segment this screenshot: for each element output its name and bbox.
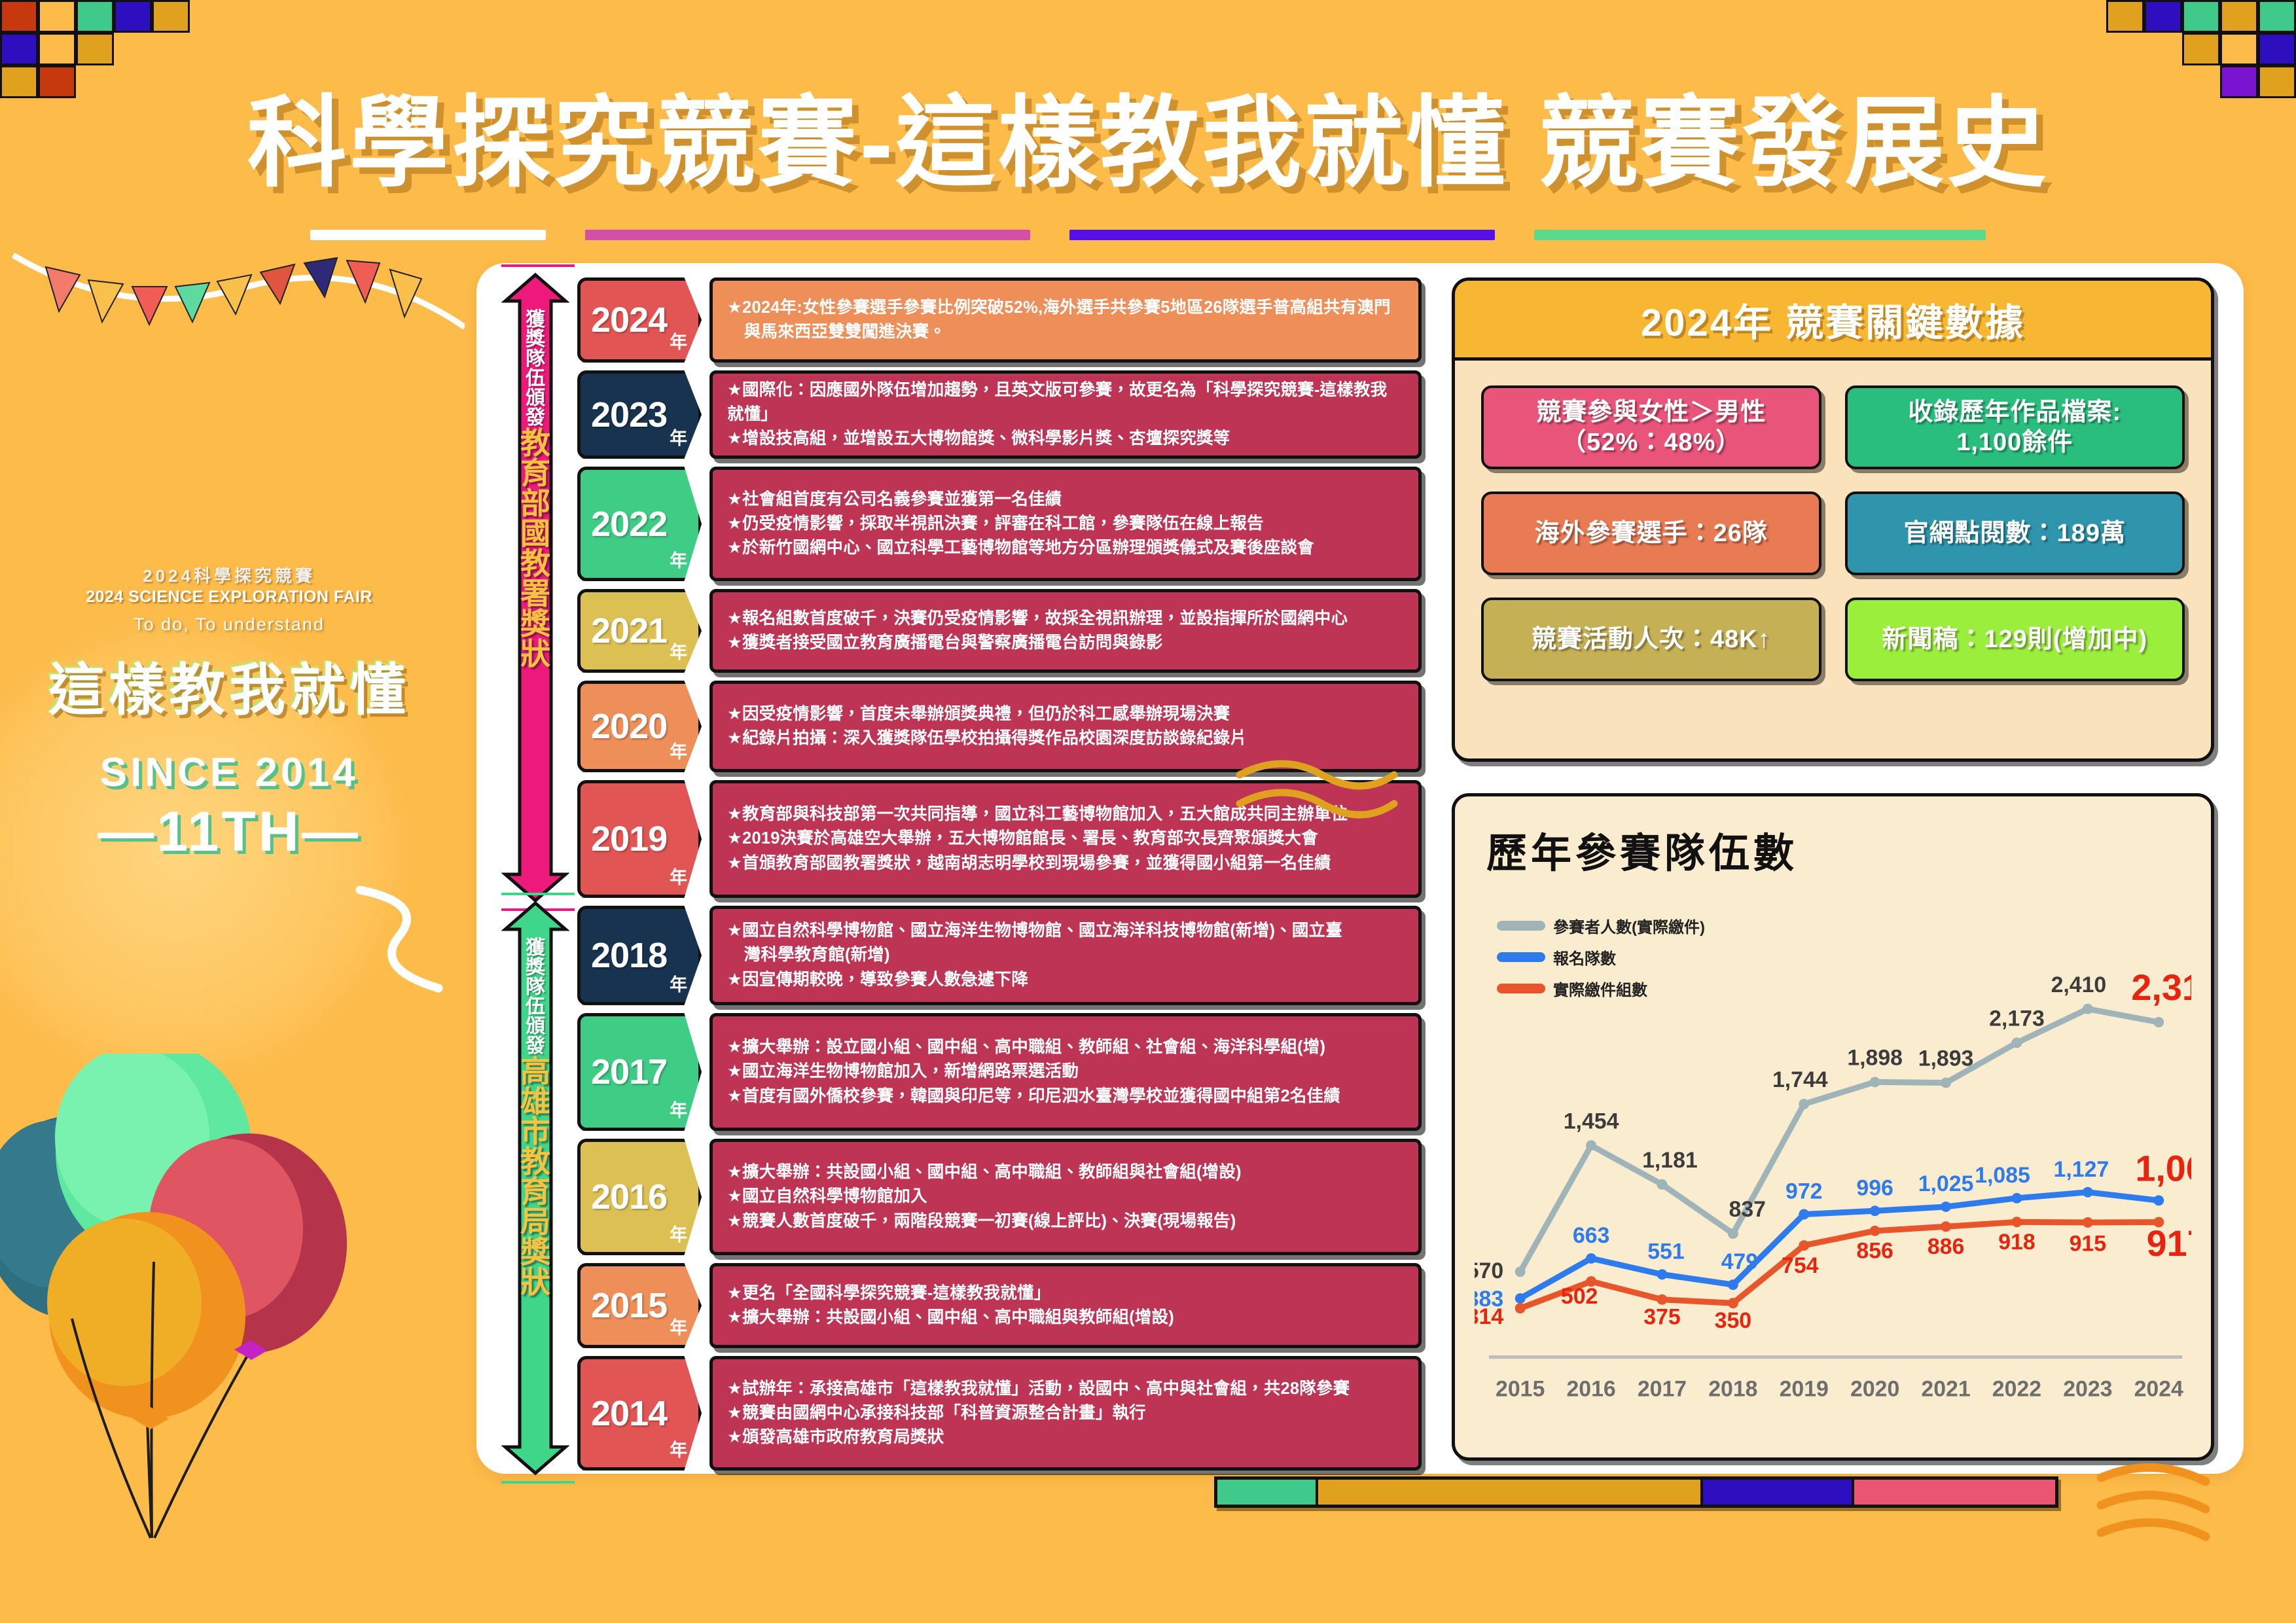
chart-value-label: 837 — [1729, 1197, 1766, 1222]
timeline-row[interactable]: 2021年★報名組數首度破千，決賽仍受疫情影響，故採全視訊辦理，並設指揮所於國網… — [577, 589, 1422, 673]
footer-color-bar — [1214, 1476, 2058, 1508]
arrow-cap-top — [501, 264, 575, 267]
event-logo: 2024科學探究競賽 2024 SCIENCE EXPLORATION FAIR… — [26, 563, 432, 865]
chart-legend-label: 參賽者人數(實際繳件) — [1553, 914, 1705, 937]
chart-point — [2083, 1004, 2093, 1014]
award-arrow-label: 獲 獎 隊 伍 頒 發高 雄 市 教 育 局 獎 狀 — [501, 938, 569, 1297]
chart-point — [2011, 1217, 2022, 1227]
chart-point — [1870, 1226, 1880, 1236]
bunting-icon — [7, 236, 465, 471]
title-bar-4 — [1534, 230, 1986, 240]
timeline-year-badge: 2018年 — [577, 906, 702, 1005]
wave-lines-icon — [2088, 1459, 2232, 1558]
key-data-header: 2024年 競賽關鍵數據 — [1455, 281, 2211, 361]
logo-since: SINCE 2014 — [26, 749, 432, 796]
content-panel: 獲 獎 隊 伍 頒 發教 育 部 國 教 署 獎 狀獲 獎 隊 伍 頒 發高 雄… — [476, 263, 2244, 1474]
chart-value-label: 375 — [1643, 1305, 1680, 1330]
chart-value-label: 1,085 — [1975, 1163, 2030, 1188]
timeline-detail-line: ★獲獎者接受國立教育廣播電台與警察廣播電台訪問與錄影 — [727, 631, 1404, 655]
key-data-cell: 新聞稿：129則(增加中) — [1845, 597, 2185, 681]
timeline-year: 2015 — [591, 1288, 667, 1323]
chart-value-label: 350 — [1715, 1308, 1751, 1333]
chart-point — [2083, 1187, 2093, 1198]
logo-english-title: 2024 SCIENCE EXPLORATION FAIR — [26, 588, 432, 607]
chart-point — [1941, 1202, 1951, 1212]
chart-value-label: 1,893 — [1918, 1046, 1974, 1071]
chart-value-label: 1,744 — [1772, 1067, 1828, 1092]
arrow-cap-bottom — [501, 1481, 575, 1484]
title-bar-2 — [585, 230, 1030, 240]
chart-point — [1515, 1293, 1526, 1304]
timeline-detail-line: ★於新竹國網中心、國立科學工藝博物館等地方分區辦理頒獎儀式及賽後座談會 — [727, 536, 1404, 560]
chart-value-label: 1,069 — [2135, 1148, 2191, 1188]
timeline-year: 2017 — [591, 1054, 667, 1090]
chart-legend-item: 報名隊數 — [1497, 946, 1705, 969]
timeline-detail: ★試辦年：承接高雄市「這樣教我就懂」活動，設國中、高中與社會組，共28隊參賽★競… — [709, 1356, 1422, 1471]
chart-point — [1586, 1253, 1596, 1264]
chart-value-label: 754 — [1782, 1253, 1819, 1278]
chart-value-label: 479 — [1721, 1249, 1758, 1274]
award-arrow-kaohsiung: 獲 獎 隊 伍 頒 發高 雄 市 教 育 局 獎 狀 — [501, 901, 569, 1476]
timeline-detail-line: ★國立自然科學博物館加入 — [727, 1185, 1404, 1209]
key-data-cell-label: 競賽活動人次：48K↑ — [1532, 624, 1771, 654]
chart-value-label: 551 — [1647, 1239, 1684, 1264]
timeline-year: 2020 — [591, 709, 667, 744]
timeline-detail-line: ★國立自然科學博物館、國立海洋生物博物館、國立海洋科技博物館(新增)、國立臺 — [727, 919, 1404, 943]
chart-point — [2011, 1037, 2022, 1048]
key-data-cell-label: 海外參賽選手：26隊 — [1535, 518, 1768, 548]
logo-edition: —11TH— — [26, 800, 432, 865]
timeline-row[interactable]: 2022年★社會組首度有公司名義參賽並獲第一名佳績★仍受疫情影響，採取半視訊決賽… — [577, 467, 1422, 581]
timeline-detail-line: ★國立海洋生物博物館加入，新增網路票選活動 — [727, 1060, 1404, 1084]
chart-point — [1799, 1099, 1809, 1109]
page-title: 科學探究競賽-這樣教我就懂 競賽發展史 — [0, 62, 2296, 206]
award-arrow-name: 教 育 部 國 教 署 獎 狀 — [501, 428, 569, 669]
timeline-year: 2021 — [591, 613, 667, 649]
timeline-detail: ★2024年:女性參賽選手參賽比例突破52%,海外選手共參賽5地區26隊選手普高… — [709, 277, 1422, 363]
chart-line — [1520, 1009, 2159, 1272]
timeline-year-badge: 2019年 — [577, 780, 702, 898]
timeline-year: 2022 — [591, 507, 667, 542]
footer-bar-segment — [1318, 1480, 1704, 1505]
timeline-year-suffix: 年 — [670, 863, 687, 889]
participation-chart-card: 歷年參賽隊伍數 參賽者人數(實際繳件)報名隊數實際繳件組數 2015201620… — [1452, 793, 2214, 1461]
chart-point — [1728, 1279, 1738, 1290]
timeline-year-suffix: 年 — [670, 1313, 687, 1339]
timeline-year: 2019 — [591, 821, 667, 857]
award-arrow-label: 獲 獎 隊 伍 頒 發教 育 部 國 教 署 獎 狀 — [501, 310, 569, 669]
squiggle-icon — [340, 877, 471, 1001]
chart-point — [1657, 1269, 1668, 1279]
key-data-cell: 競賽參與女性＞男性 （52%：48%） — [1481, 385, 1821, 469]
timeline-detail: ★更名「全國科學探究競賽-這樣教我就懂」★擴大舉辦：共設國小組、國中組、高中職組… — [709, 1263, 1422, 1348]
chart-x-tick: 2022 — [1992, 1376, 2041, 1401]
key-data-grid: 競賽參與女性＞男性 （52%：48%）收錄歷年作品檔案: 1,100餘件海外參賽… — [1455, 361, 2211, 706]
timeline-detail-line: ★首度有國外僑校參賽，韓國與印尼等，印尼泗水臺灣學校並獲得國中組第2名佳績 — [727, 1084, 1404, 1109]
key-data-cell: 收錄歷年作品檔案: 1,100餘件 — [1845, 385, 2185, 469]
timeline-row[interactable]: 2016年★擴大舉辦：共設國小組、國中組、高中職組、教師組與社會組(增設)★國立… — [577, 1139, 1422, 1255]
timeline-year: 2024 — [591, 302, 667, 338]
timeline-year-suffix: 年 — [670, 738, 687, 763]
timeline-year-suffix: 年 — [670, 1096, 687, 1122]
timeline-year-suffix: 年 — [670, 638, 687, 664]
chart-x-tick: 2016 — [1566, 1376, 1615, 1401]
timeline-detail-line: ★紀錄片拍攝：深入獲獎隊伍學校拍攝得獎作品校園深度訪談錄紀錄片 — [727, 726, 1404, 751]
arrow-cap-top — [501, 893, 575, 895]
chart-x-tick: 2018 — [1708, 1376, 1757, 1401]
timeline-detail: ★報名組數首度破千，決賽仍受疫情影響，故採全視訊辦理，並設指揮所於國網中心★獲獎… — [709, 589, 1422, 673]
timeline-detail-line: ★擴大舉辦：設立國小組、國中組、高中職組、教師組、社會組、海洋科學組(增) — [727, 1035, 1404, 1060]
chart-point — [1515, 1266, 1526, 1277]
title-bar-3 — [1069, 230, 1495, 240]
chart-x-tick: 2020 — [1850, 1376, 1899, 1401]
timeline-detail-line: ★社會組首度有公司名義參賽並獲第一名佳績 — [727, 488, 1404, 512]
key-data-cell-label: 收錄歷年作品檔案: 1,100餘件 — [1908, 397, 2121, 458]
timeline-row[interactable]: 2024年★2024年:女性參賽選手參賽比例突破52%,海外選手共參賽5地區26… — [577, 277, 1422, 363]
timeline-detail-line: 與馬來西亞雙雙闖進決賽。 — [727, 320, 1404, 344]
chart-point — [1799, 1209, 1809, 1220]
chart-point — [1657, 1179, 1668, 1190]
chart-line — [1520, 1192, 2159, 1298]
timeline-detail-line: ★競賽由國網中心承接科技部「科普資源整合計畫」執行 — [727, 1401, 1404, 1425]
timeline-detail: ★擴大舉辦：設立國小組、國中組、高中職組、教師組、社會組、海洋科學組(增)★國立… — [709, 1013, 1422, 1131]
timeline-detail-line: ★2024年:女性參賽選手參賽比例突破52%,海外選手共參賽5地區26隊選手普高… — [727, 296, 1404, 320]
chart-point — [2153, 1195, 2164, 1205]
chart-point — [2153, 1017, 2164, 1027]
timeline-detail-line: ★報名組數首度破千，決賽仍受疫情影響，故採全視訊辦理，並設指揮所於國網中心 — [727, 607, 1404, 631]
chart-point — [1941, 1078, 1951, 1088]
timeline-year-suffix: 年 — [670, 1436, 687, 1461]
chart-value-label: 915 — [2070, 1232, 2106, 1257]
award-arrow-moe: 獲 獎 隊 伍 頒 發教 育 部 國 教 署 獎 狀 — [501, 272, 569, 903]
timeline-year: 2018 — [591, 938, 667, 973]
timeline-year-suffix: 年 — [670, 424, 687, 450]
chart-point — [2083, 1217, 2093, 1228]
timeline-year-badge: 2020年 — [577, 681, 702, 772]
timeline-detail: ★擴大舉辦：共設國小組、國中組、高中職組、教師組與社會組(增設)★國立自然科學博… — [709, 1139, 1422, 1255]
timeline-row[interactable]: 2017年★擴大舉辦：設立國小組、國中組、高中職組、教師組、社會組、海洋科學組(… — [577, 1013, 1422, 1131]
chart-value-label: 314 — [1475, 1304, 1503, 1329]
timeline-row[interactable]: 2023年★國際化：因應國外隊伍增加趨勢，且英文版可參賽，故更名為「科學探究競賽… — [577, 370, 1422, 459]
chart-x-tick: 2024 — [2134, 1376, 2183, 1401]
timeline-detail-line: ★仍受疫情影響，採取半視訊決賽，評審在科工館，參賽隊伍在線上報告 — [727, 512, 1404, 536]
footer-bar-segment — [1217, 1480, 1318, 1505]
chart-legend-swatch — [1497, 952, 1545, 962]
chart-plot-area: 參賽者人數(實際繳件)報名隊數實際繳件組數 201520162017201820… — [1475, 880, 2191, 1429]
timeline-year-suffix: 年 — [670, 328, 687, 353]
page-header: 科學探究競賽-這樣教我就懂 競賽發展史 — [0, 62, 2296, 240]
timeline-year-badge: 2024年 — [577, 277, 702, 363]
timeline-detail-line: ★增設技高組，並增設五大博物館獎、微科學影片獎、杏壇探究獎等 — [727, 427, 1404, 451]
key-data-title: 2024年 競賽關鍵數據 — [1641, 292, 2025, 347]
chart-value-label: 2,317 — [2131, 967, 2191, 1008]
chart-legend-item: 參賽者人數(實際繳件) — [1497, 914, 1705, 937]
timeline-year-badge: 2016年 — [577, 1139, 702, 1255]
award-arrow-prefix: 獲 獎 隊 伍 頒 發 — [501, 310, 569, 428]
footer-bar-segment — [1703, 1480, 1854, 1505]
footer-bar-segment — [1854, 1480, 2055, 1505]
chart-point — [1941, 1221, 1951, 1232]
chart-title: 歷年參賽隊伍數 — [1486, 820, 2191, 879]
chart-value-label: 856 — [1856, 1239, 1893, 1264]
timeline-detail: ★國際化：因應國外隊伍增加趨勢，且英文版可參賽，故更名為「科學探究競賽-這樣教我… — [709, 370, 1422, 459]
timeline-row[interactable]: 2015年★更名「全國科學探究競賽-這樣教我就懂」★擴大舉辦：共設國小組、國中組… — [577, 1263, 1422, 1348]
logo-slogan: 這樣教我就懂 — [26, 644, 432, 726]
timeline-row[interactable]: 2018年★國立自然科學博物館、國立海洋生物博物館、國立海洋科技博物館(新增)、… — [577, 906, 1422, 1005]
chart-x-tick: 2019 — [1780, 1376, 1829, 1401]
key-data-cell: 競賽活動人次：48K↑ — [1481, 597, 1821, 681]
timeline-year-badge: 2021年 — [577, 589, 702, 673]
chart-point — [1870, 1205, 1880, 1216]
chart-value-label: 663 — [1573, 1223, 1609, 1248]
balloons-icon — [0, 1054, 406, 1551]
chart-legend-swatch — [1497, 921, 1545, 931]
timeline-year-badge: 2015年 — [577, 1263, 702, 1348]
timeline-detail-line: ★擴大舉辦：共設國小組、國中組、高中職組與教師組(增設) — [727, 1306, 1404, 1330]
timeline-year-suffix: 年 — [670, 971, 687, 996]
chart-point — [1728, 1228, 1738, 1239]
chart-value-label: 1,025 — [1918, 1171, 1974, 1196]
timeline-row[interactable]: 2014年★試辦年：承接高雄市「這樣教我就懂」活動，設國中、高中與社會組，共28… — [577, 1356, 1422, 1471]
wave-lines-decor-icon — [1230, 753, 1401, 851]
title-underline-bars — [0, 230, 2296, 240]
timeline-detail-line: ★首頒教育部國教署獎狀，越南胡志明學校到現場參賽，並獲得國小組第一名佳績 — [727, 851, 1404, 876]
chart-value-label: 886 — [1928, 1234, 1964, 1259]
timeline-detail-line: 灣科學教育館(新增) — [727, 943, 1404, 967]
chart-legend: 參賽者人數(實際繳件)報名隊數實際繳件組數 — [1497, 914, 1705, 1008]
award-arrow-name: 高 雄 市 教 育 局 獎 狀 — [501, 1056, 569, 1297]
chart-value-label: 1,898 — [1847, 1046, 1903, 1071]
chart-legend-label: 實際繳件組數 — [1553, 977, 1647, 1000]
timeline-detail-line: ★擴大舉辦：共設國小組、國中組、高中職組、教師組與社會組(增設) — [727, 1160, 1404, 1185]
key-data-cell-label: 官網點閱數：189萬 — [1904, 518, 2126, 548]
chart-x-tick: 2017 — [1638, 1376, 1687, 1401]
logo-tagline: To do, To understand — [26, 615, 432, 635]
timeline-detail-line: ★頒發高雄市政府教育局獎狀 — [727, 1425, 1404, 1450]
logo-chinese-title: 2024科學探究競賽 — [26, 563, 432, 587]
chart-point — [1799, 1240, 1809, 1251]
key-data-cell: 官網點閱數：189萬 — [1845, 491, 2185, 575]
chart-point — [2011, 1193, 2022, 1204]
key-data-cell: 海外參賽選手：26隊 — [1481, 491, 1821, 575]
key-data-cell-label: 競賽參與女性＞男性 （52%：48%） — [1536, 397, 1766, 458]
timeline-detail-line: ★因受疫情影響，首度未舉辦頒獎典禮，但仍於科工感舉辦現場決賽 — [727, 702, 1404, 726]
chart-value-label: 1,181 — [1642, 1148, 1698, 1173]
timeline-year-badge: 2022年 — [577, 467, 702, 581]
timeline: 獲 獎 隊 伍 頒 發教 育 部 國 教 署 獎 狀獲 獎 隊 伍 頒 發高 雄… — [500, 277, 1416, 1462]
chart-legend-swatch — [1497, 984, 1545, 993]
timeline-detail-line: ★更名「全國科學探究競賽-這樣教我就懂」 — [727, 1281, 1404, 1306]
chart-value-label: 2,173 — [1989, 1007, 2045, 1031]
chart-x-tick: 2015 — [1496, 1376, 1545, 1401]
left-decoration-column: 2024科學探究競賽 2024 SCIENCE EXPLORATION FAIR… — [0, 196, 471, 1505]
timeline-arrows: 獲 獎 隊 伍 頒 發教 育 部 國 教 署 獎 狀獲 獎 隊 伍 頒 發高 雄… — [500, 277, 572, 1462]
timeline-detail: ★社會組首度有公司名義參賽並獲第一名佳績★仍受疫情影響，採取半視訊決賽，評審在科… — [709, 467, 1422, 581]
chart-point — [1515, 1303, 1526, 1313]
chart-value-label: 918 — [1998, 1230, 2035, 1255]
key-data-cell-label: 新聞稿：129則(增加中) — [1882, 624, 2147, 654]
timeline-year: 2014 — [591, 1396, 667, 1431]
timeline-year-badge: 2014年 — [577, 1356, 702, 1471]
timeline-year-suffix: 年 — [670, 546, 687, 572]
chart-point — [1657, 1294, 1668, 1305]
chart-x-tick: 2023 — [2063, 1376, 2112, 1401]
chart-point — [1870, 1077, 1880, 1087]
chart-legend-label: 報名隊數 — [1553, 946, 1616, 969]
chart-value-label: 996 — [1856, 1175, 1893, 1200]
chart-value-label: 1,127 — [2054, 1157, 2109, 1182]
chart-legend-item: 實際繳件組數 — [1497, 977, 1705, 1000]
timeline-year-suffix: 年 — [670, 1221, 687, 1246]
chart-point — [1728, 1298, 1738, 1308]
timeline-year: 2023 — [591, 397, 667, 433]
award-arrow-prefix: 獲 獎 隊 伍 頒 發 — [501, 938, 569, 1056]
timeline-detail-line: ★國際化：因應國外隊伍增加趨勢，且英文版可參賽，故更名為「科學探究競賽-這樣教我… — [727, 378, 1404, 427]
chart-value-label: 570 — [1475, 1258, 1503, 1283]
title-bar-1 — [310, 230, 546, 240]
timeline-detail-line: ★因宣傳期較晚，導致參賽人數急遽下降 — [727, 968, 1404, 992]
timeline-year-badge: 2023年 — [577, 370, 702, 459]
chart-value-label: 502 — [1561, 1284, 1598, 1309]
timeline-year: 2016 — [591, 1179, 667, 1215]
chart-point — [1586, 1140, 1596, 1150]
chart-value-label: 917 — [2147, 1223, 2191, 1264]
chart-value-label: 2,410 — [2051, 972, 2107, 997]
chart-x-tick: 2021 — [1921, 1376, 1970, 1401]
timeline-detail-line: ★試辦年：承接高雄市「這樣教我就懂」活動，設國中、高中與社會組，共28隊參賽 — [727, 1377, 1404, 1401]
chart-value-label: 972 — [1785, 1179, 1822, 1204]
timeline-detail-line: ★競賽人數首度破千，兩階段競賽一初賽(線上評比)、決賽(現場報告) — [727, 1209, 1404, 1234]
key-data-card: 2024年 競賽關鍵數據 競賽參與女性＞男性 （52%：48%）收錄歷年作品檔案… — [1452, 277, 2214, 762]
timeline-year-badge: 2017年 — [577, 1013, 702, 1131]
timeline-detail: ★國立自然科學博物館、國立海洋生物博物館、國立海洋科技博物館(新增)、國立臺 灣… — [709, 906, 1422, 1005]
chart-value-label: 1,454 — [1564, 1109, 1619, 1133]
